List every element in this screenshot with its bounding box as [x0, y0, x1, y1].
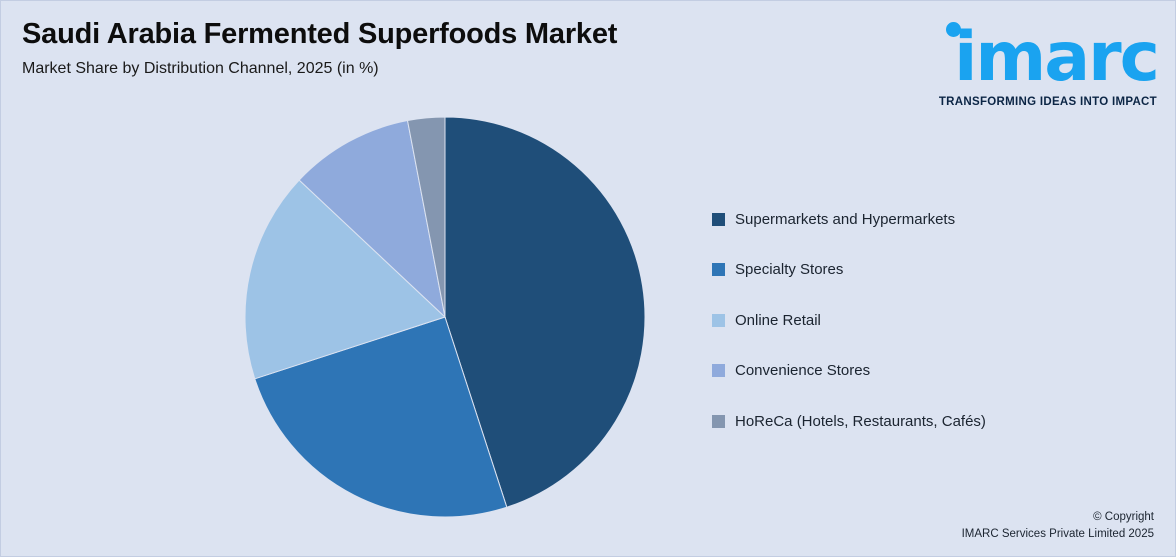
imarc-logo: imarc TRANSFORMING IDEAS INTO IMPACT	[918, 10, 1158, 106]
legend-item[interactable]: HoReCa (Hotels, Restaurants, Cafés)	[712, 396, 986, 447]
legend-swatch-icon	[712, 415, 725, 428]
legend-label: Supermarkets and Hypermarkets	[735, 211, 955, 228]
legend-item[interactable]: Specialty Stores	[712, 245, 986, 296]
legend-swatch-icon	[712, 314, 725, 327]
legend-label: HoReCa (Hotels, Restaurants, Cafés)	[735, 413, 986, 430]
legend-swatch-icon	[712, 364, 725, 377]
legend-label: Specialty Stores	[735, 261, 843, 278]
footer-copyright: © Copyright IMARC Services Private Limit…	[962, 509, 1154, 543]
pie-chart-svg	[245, 117, 645, 517]
logo-tagline: TRANSFORMING IDEAS INTO IMPACT	[939, 96, 1157, 108]
legend-label: Convenience Stores	[735, 362, 870, 379]
legend-swatch-icon	[712, 213, 725, 226]
footer-line-2: IMARC Services Private Limited 2025	[962, 526, 1154, 543]
legend-swatch-icon	[712, 263, 725, 276]
footer-line-1: © Copyright	[962, 509, 1154, 526]
legend-item[interactable]: Supermarkets and Hypermarkets	[712, 194, 986, 245]
page-title: Saudi Arabia Fermented Superfoods Market	[22, 18, 617, 51]
legend-label: Online Retail	[735, 312, 821, 329]
page-subtitle: Market Share by Distribution Channel, 20…	[22, 60, 379, 78]
logo-wordmark: imarc	[954, 24, 1158, 92]
chart-legend: Supermarkets and HypermarketsSpecialty S…	[712, 194, 986, 447]
pie-chart	[245, 117, 645, 517]
legend-item[interactable]: Online Retail	[712, 295, 986, 346]
legend-item[interactable]: Convenience Stores	[712, 346, 986, 397]
